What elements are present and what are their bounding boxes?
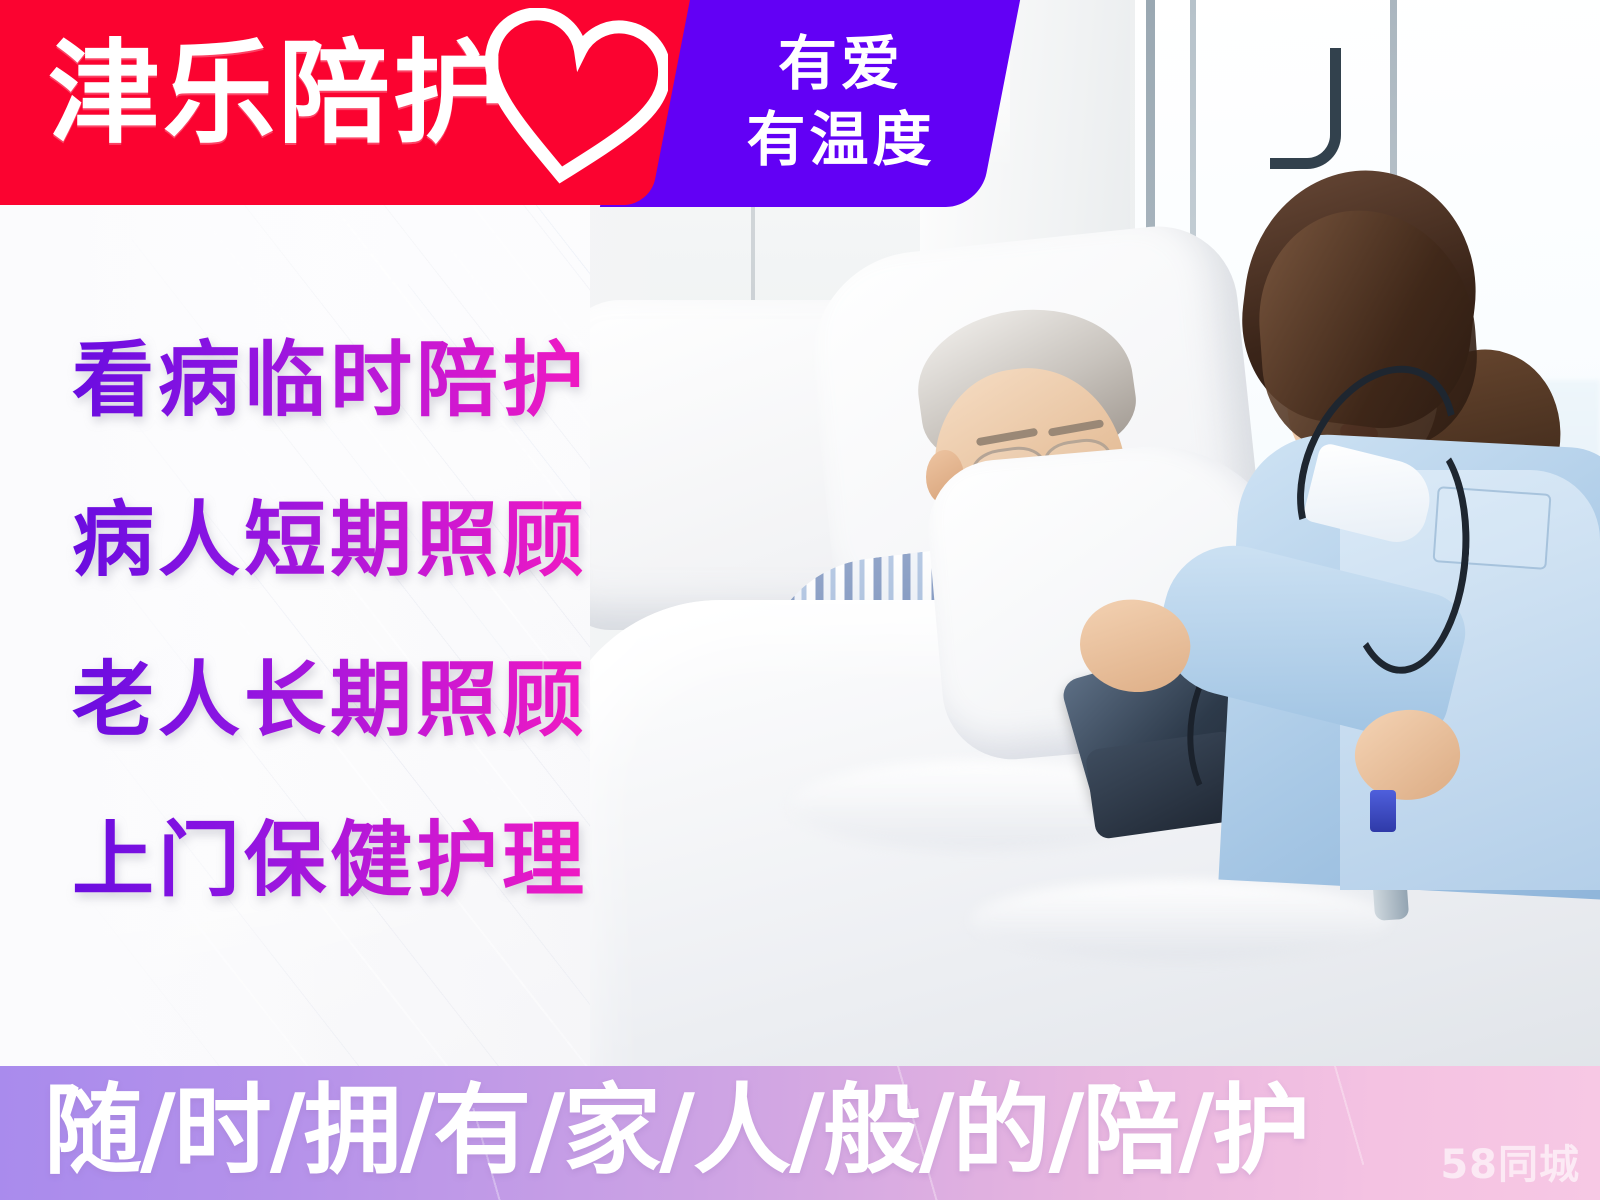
feature-item: 老人长期照顾 [72, 660, 712, 742]
feature-label: 看病临时陪护 [72, 333, 588, 428]
bottom-tagline: 随/时/拥/有/家/人/般/的/陪/护 [44, 1080, 1308, 1183]
feature-item: 看病临时陪护 [72, 340, 712, 422]
feature-list: 看病临时陪护 病人短期照顾 老人长期照顾 上门保健护理 [72, 340, 712, 980]
feature-label: 病人短期照顾 [72, 493, 588, 588]
slogan-text: 有爱 有温度 [716, 26, 966, 177]
feature-item: 上门保健护理 [72, 820, 712, 902]
nurse-badge [1370, 790, 1396, 832]
heart-outline-icon [478, 8, 668, 188]
ceiling-hook-icon [1270, 48, 1341, 169]
brand-name: 津乐陪护 [48, 38, 508, 150]
advertisement-poster: 有爱 有温度 津乐陪护 看病临时陪护 病人短期照顾 老人长期照顾 上门保健护理 … [0, 0, 1600, 1200]
bottom-tagline-bar: 随/时/拥/有/家/人/般/的/陪/护 58同城 [0, 1066, 1600, 1200]
slogan-line-1: 有爱 [716, 26, 966, 102]
feature-item: 病人短期照顾 [72, 500, 712, 582]
duvet-fold [970, 880, 1390, 960]
slogan-line-2: 有温度 [716, 102, 966, 178]
feature-label: 老人长期照顾 [72, 653, 588, 748]
feature-label: 上门保健护理 [72, 813, 588, 908]
watermark-58tongcheng: 58同城 [1440, 1132, 1580, 1190]
